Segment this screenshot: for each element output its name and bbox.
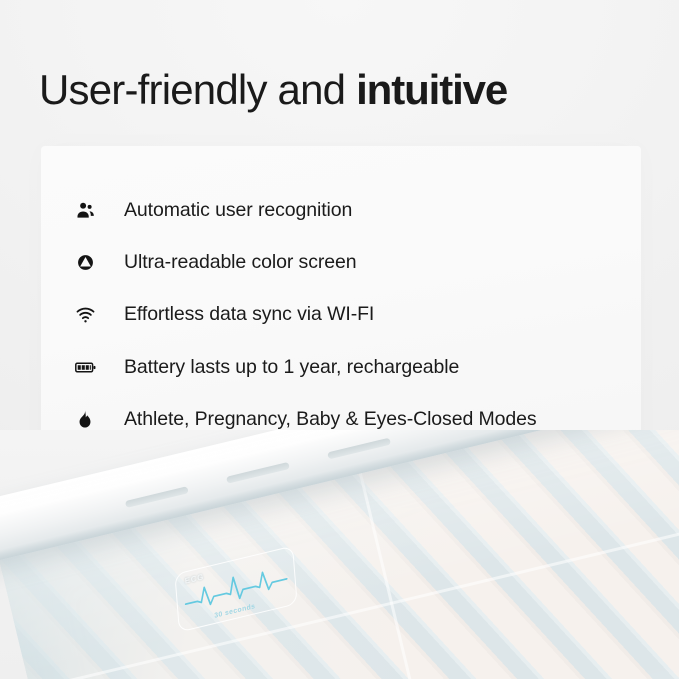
product-photo xyxy=(0,430,679,679)
flame-icon xyxy=(74,408,96,430)
feature-label: Automatic user recognition xyxy=(124,199,352,221)
feature-label: Ultra-readable color screen xyxy=(124,251,357,273)
list-item: Ultra-readable color screen xyxy=(74,247,357,277)
feature-card: Automatic user recognition Ultra-readabl… xyxy=(41,146,641,476)
battery-icon xyxy=(74,356,96,378)
users-icon xyxy=(74,199,96,221)
contrast-icon xyxy=(74,251,96,273)
list-item: Automatic user recognition xyxy=(74,195,352,225)
feature-label: Athlete, Pregnancy, Baby & Eyes-Closed M… xyxy=(124,408,537,430)
product-feature-graphic: User-friendly and intuitive Automatic us… xyxy=(0,0,679,679)
smart-scale-body xyxy=(0,430,679,679)
feature-label: Battery lasts up to 1 year, rechargeable xyxy=(124,356,459,378)
page-title: User-friendly and intuitive xyxy=(39,62,507,118)
list-item: Battery lasts up to 1 year, rechargeable xyxy=(74,352,459,382)
wifi-icon xyxy=(74,303,96,325)
list-item: Effortless data sync via WI-FI xyxy=(74,299,374,329)
page-title-bold: intuitive xyxy=(356,66,507,113)
feature-label: Effortless data sync via WI-FI xyxy=(124,303,374,325)
page-title-light: User-friendly and xyxy=(39,66,356,113)
